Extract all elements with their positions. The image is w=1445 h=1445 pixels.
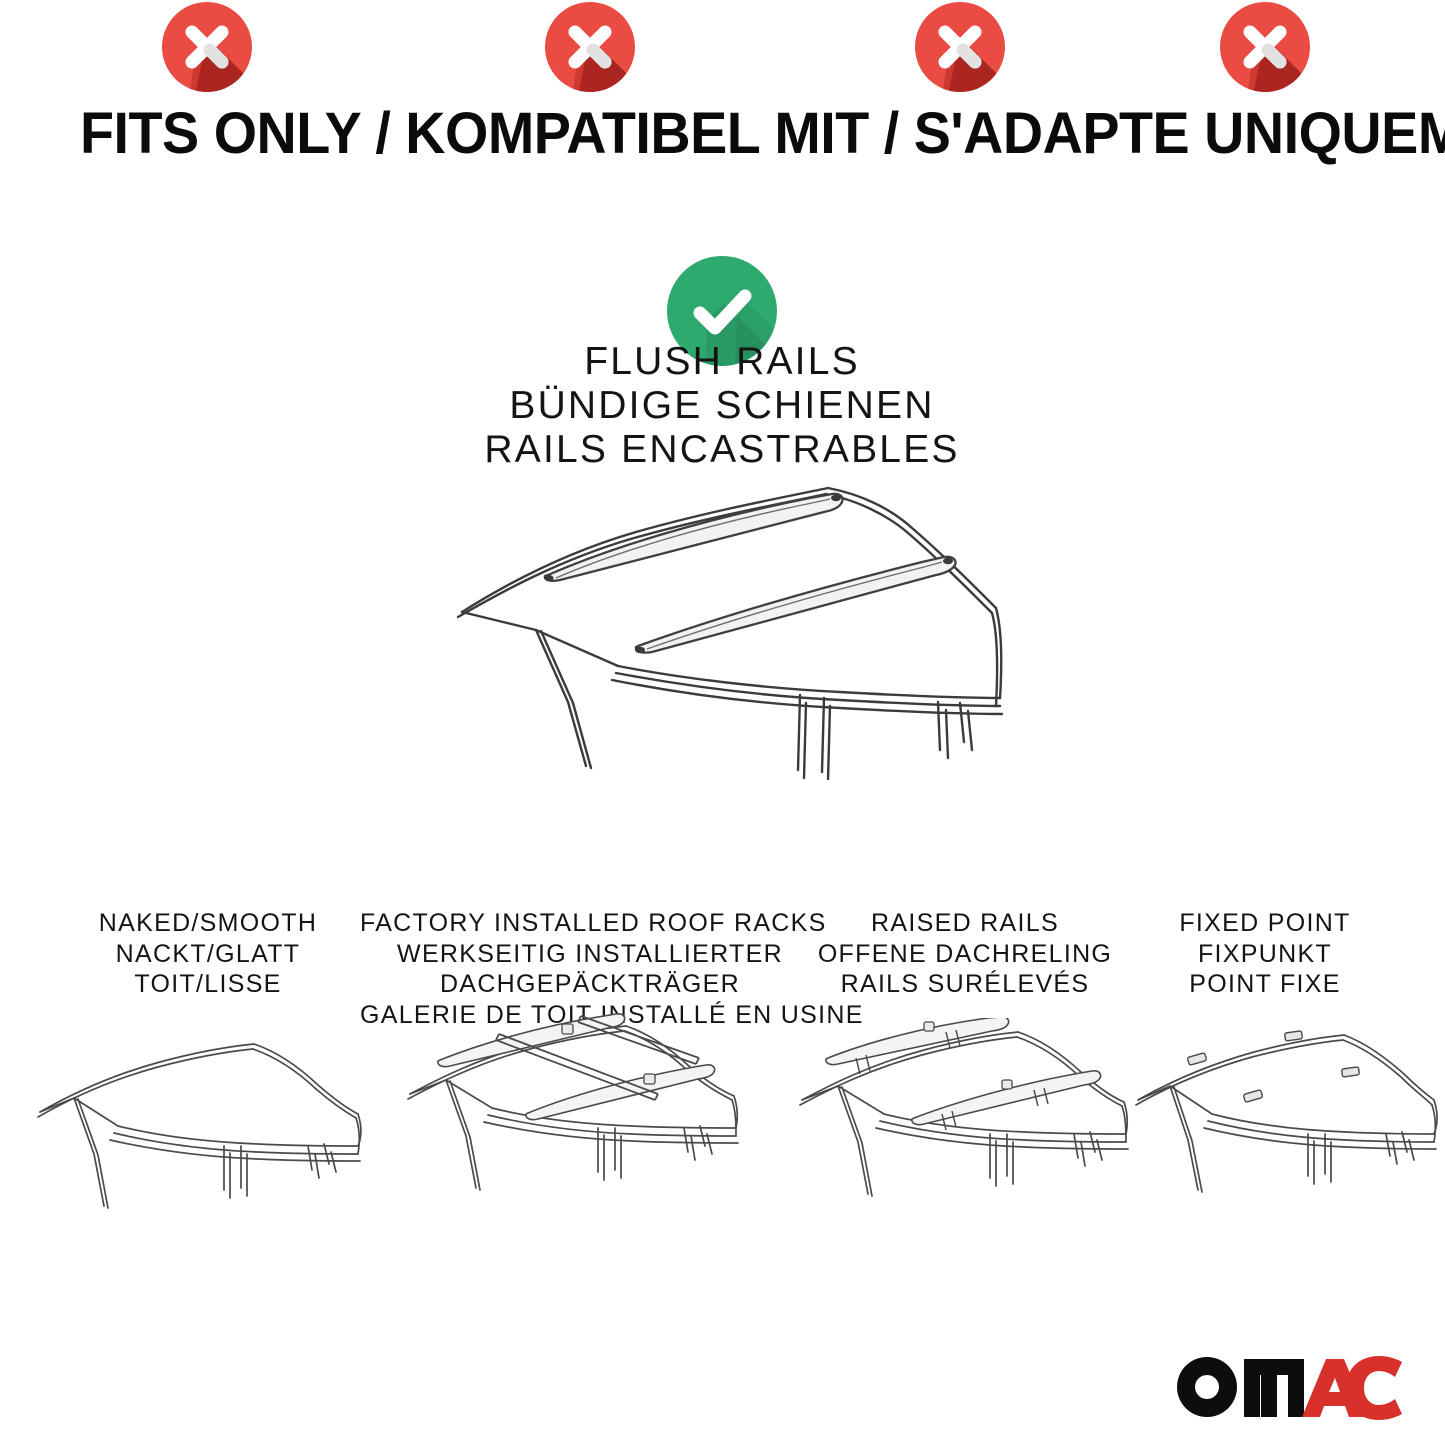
car-roof-naked-smooth-illustration	[28, 1030, 378, 1260]
compatible-line-de: BÜNDIGE SCHIENEN	[372, 384, 1072, 428]
label-line-en: RAISED RAILS	[805, 908, 1125, 939]
incompatible-label-raised-rails: RAISED RAILS OFFENE DACHRELING RAILS SUR…	[805, 908, 1125, 1000]
car-roof-with-factory-crossbars-illustration	[400, 1008, 772, 1238]
incompatible-label-fixed-point: FIXED POINT FIXPUNKT POINT FIXE	[1115, 908, 1415, 1000]
label-line-de: OFFENE DACHRELING	[805, 939, 1125, 970]
label-line-fr: RAILS SURÉLEVÉS	[805, 969, 1125, 1000]
label-line-de: FIXPUNKT	[1115, 939, 1415, 970]
cross-circle-icon	[1218, 0, 1312, 94]
page-title: FITS ONLY / KOMPATIBEL MIT / S'ADAPTE UN…	[80, 103, 1318, 165]
compatible-label: FLUSH RAILS BÜNDIGE SCHIENEN RAILS ENCAS…	[372, 340, 1072, 472]
compatible-line-en: FLUSH RAILS	[372, 340, 1072, 384]
label-line-en: FACTORY INSTALLED ROOF RACKS	[360, 908, 820, 939]
incompatible-label-naked-smooth: NAKED/SMOOTH NACKT/GLATT TOIT/LISSE	[28, 908, 388, 1000]
compatible-line-fr: RAILS ENCASTRABLES	[372, 428, 1072, 472]
label-line-de-2: DACHGEPÄCKTRÄGER	[360, 969, 820, 1000]
car-roof-with-flush-rails-illustration	[440, 470, 1020, 780]
label-line-en: NAKED/SMOOTH	[28, 908, 388, 939]
omac-logo	[1176, 1348, 1404, 1420]
fitment-infographic: FITS ONLY / KOMPATIBEL MIT / S'ADAPTE UN…	[0, 0, 1445, 1445]
label-line-en: FIXED POINT	[1115, 908, 1415, 939]
car-roof-with-raised-rails-illustration	[790, 1018, 1150, 1248]
label-line-de-1: WERKSEITIG INSTALLIERTER	[360, 939, 820, 970]
omac-logo-letter-o	[1177, 1357, 1237, 1417]
cross-circle-icon	[160, 0, 254, 94]
cross-circle-icon	[913, 0, 1007, 94]
omac-logo-letter-c	[1346, 1356, 1402, 1420]
label-line-de: NACKT/GLATT	[28, 939, 388, 970]
label-line-fr: TOIT/LISSE	[28, 969, 388, 1000]
car-roof-with-fixed-points-illustration	[1128, 1028, 1440, 1258]
label-line-fr: POINT FIXE	[1115, 969, 1415, 1000]
omac-logo-letter-m	[1244, 1359, 1304, 1417]
cross-circle-icon	[543, 0, 637, 94]
